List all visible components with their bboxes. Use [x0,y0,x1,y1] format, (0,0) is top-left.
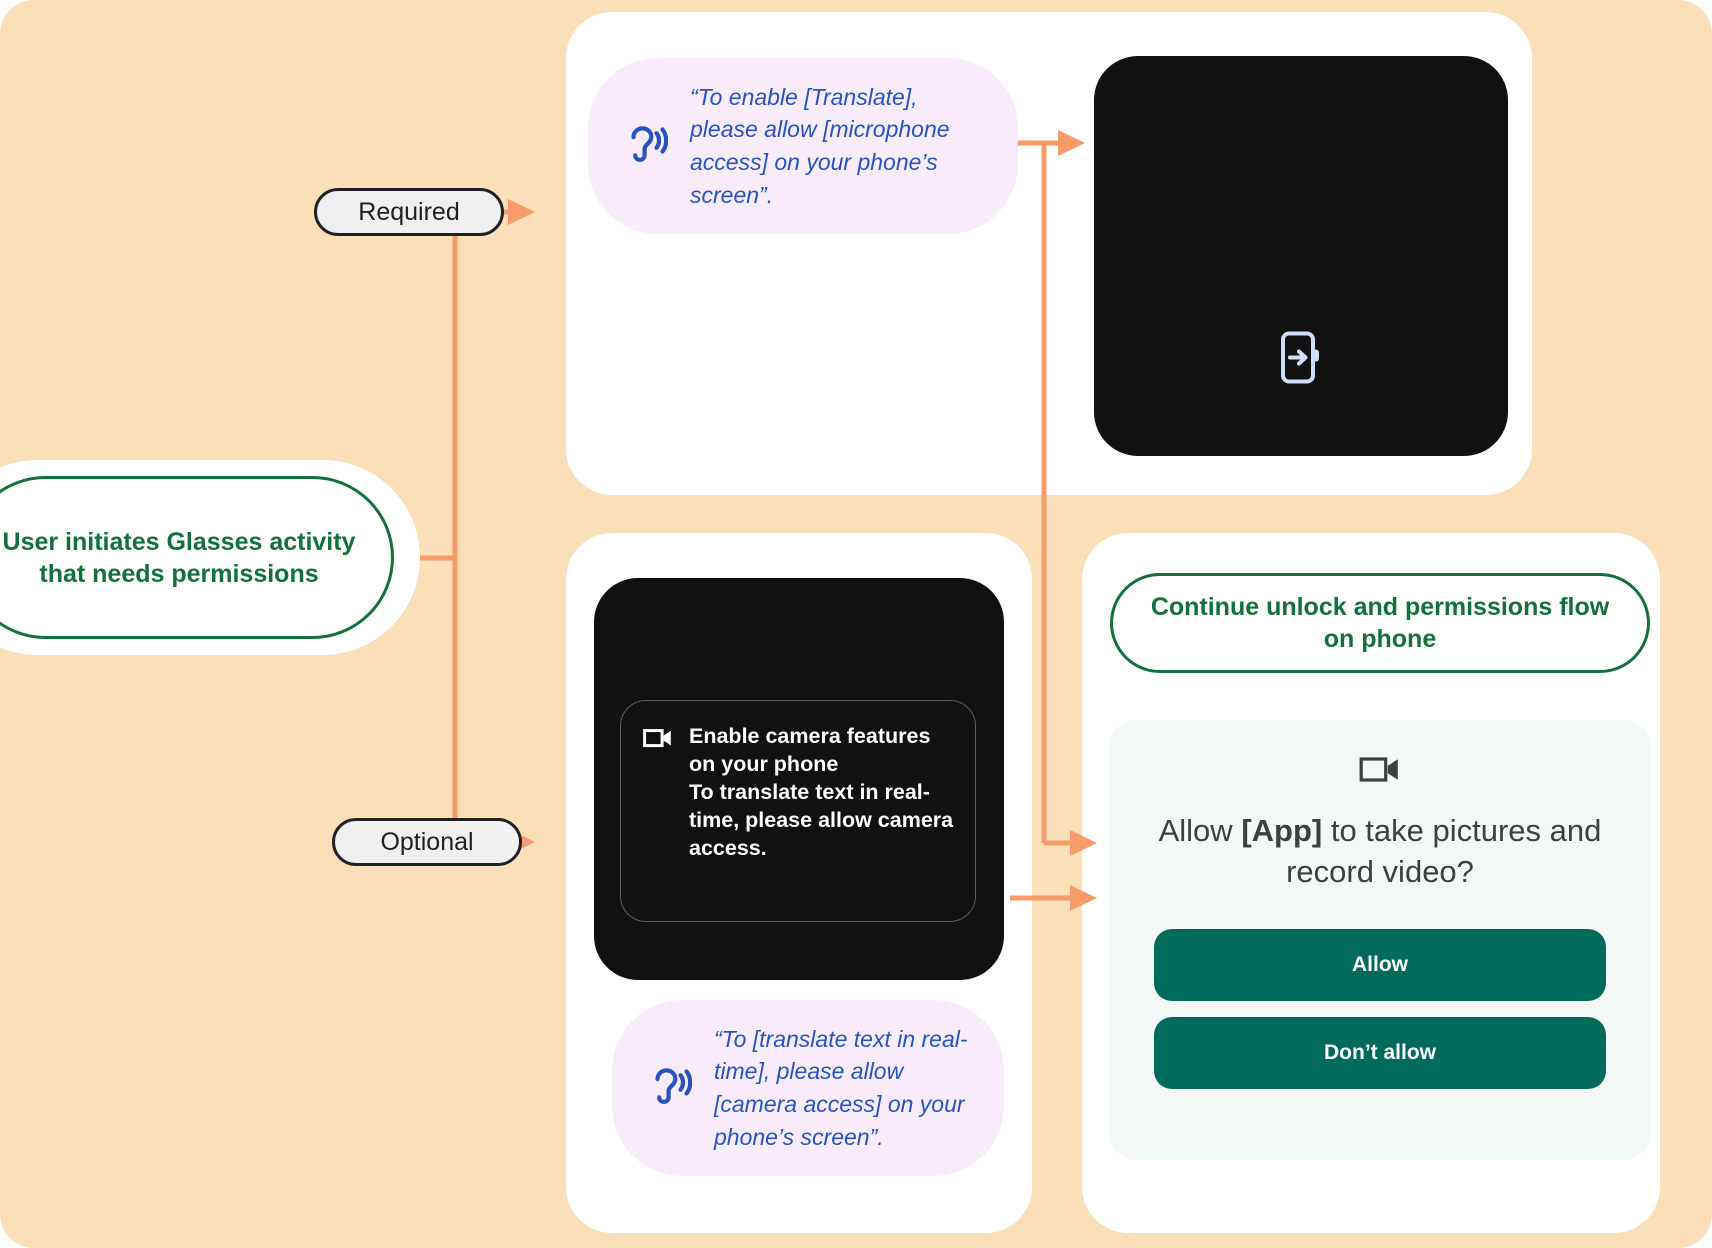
branch-pill-required[interactable]: Required [314,188,504,236]
phone-enter-arrow-icon [1278,330,1324,391]
glasses-display-optional: Enable camera features on your phone To … [594,578,1004,980]
start-node: User initiates Glasses activity that nee… [0,476,394,639]
start-node-backdrop: User initiates Glasses activity that nee… [0,460,420,655]
phone-flow-header-label: Continue unlock and permissions flow on … [1135,591,1625,655]
permission-dialog: Allow [App] to take pictures and record … [1110,720,1650,1160]
speech-bubble-required-text: “To enable [Translate], please allow [mi… [690,81,984,212]
glasses-notification-title: Enable camera features on your phone [689,723,955,779]
branch-pill-required-label: Required [358,198,459,227]
permission-title-prefix: Allow [1159,813,1242,848]
glasses-notification-body: To translate text in real-time, please a… [689,779,955,863]
phone-flow-header: Continue unlock and permissions flow on … [1110,573,1650,673]
permission-title-suffix: to take pictures and record video? [1286,813,1601,889]
permission-dialog-title: Allow [App] to take pictures and record … [1144,811,1616,893]
glasses-display-required [1094,56,1508,456]
glasses-notification-card: Enable camera features on your phone To … [620,700,976,922]
permission-title-app: [App] [1241,813,1322,848]
video-camera-icon [1359,754,1401,789]
branch-pill-optional[interactable]: Optional [332,818,522,866]
flow-diagram-canvas: User initiates Glasses activity that nee… [0,0,1712,1248]
ear-listening-icon [624,122,668,171]
ear-listening-icon [648,1064,692,1113]
speech-bubble-required: “To enable [Translate], please allow [mi… [588,58,1018,234]
dont-allow-button[interactable]: Don’t allow [1154,1017,1606,1089]
speech-bubble-optional: “To [translate text in real-time], pleas… [612,1000,1004,1176]
start-node-label: User initiates Glasses activity that nee… [0,526,363,590]
speech-bubble-optional-text: “To [translate text in real-time], pleas… [714,1023,970,1154]
allow-button[interactable]: Allow [1154,929,1606,1001]
branch-pill-optional-label: Optional [380,828,473,857]
video-camera-icon [643,723,673,921]
